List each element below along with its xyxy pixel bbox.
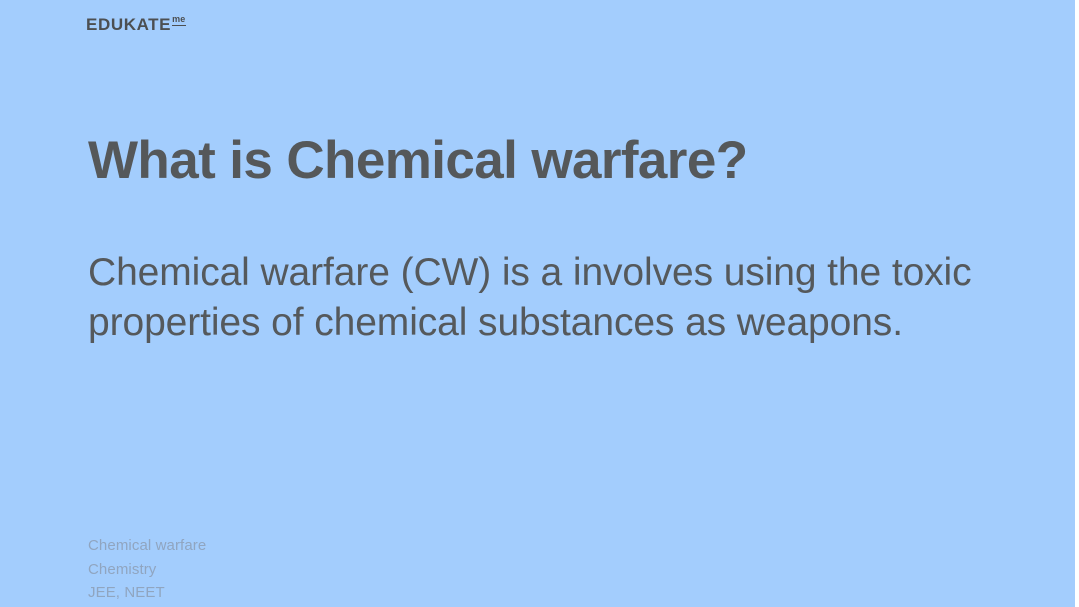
brand-logo[interactable]: EDUKATE me bbox=[86, 16, 186, 33]
presentation-slide: EDUKATE me What is Chemical warfare? Che… bbox=[0, 0, 1079, 607]
brand-superscript: me bbox=[172, 15, 185, 26]
slide-footer: Chemical warfare Chemistry JEE, NEET bbox=[88, 537, 206, 601]
footer-topic: Chemical warfare bbox=[88, 537, 206, 554]
slide-body-text: Chemical warfare (CW) is a involves usin… bbox=[88, 248, 973, 347]
footer-subject: Chemistry bbox=[88, 561, 206, 578]
right-edge-strip bbox=[1075, 0, 1079, 607]
footer-exams: JEE, NEET bbox=[88, 584, 206, 601]
brand-name: EDUKATE bbox=[86, 16, 171, 33]
slide-title: What is Chemical warfare? bbox=[88, 132, 988, 189]
